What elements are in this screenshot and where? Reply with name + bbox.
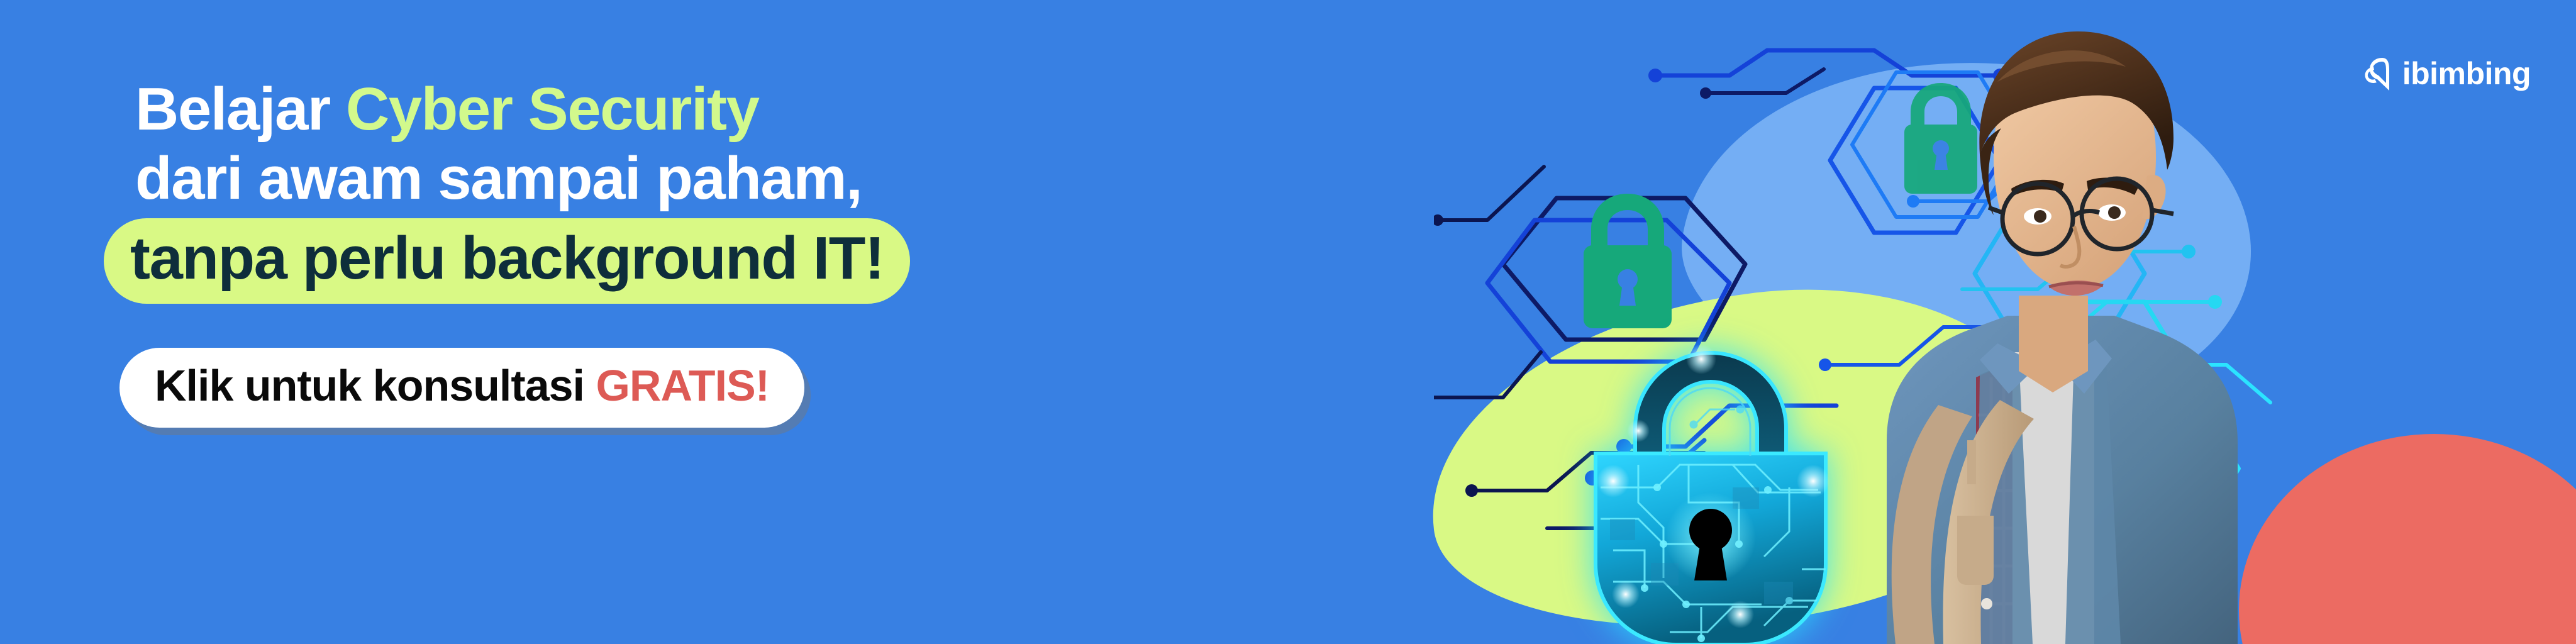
glowing-circuit-padlock-icon: [1575, 330, 1846, 644]
cta-label-free: GRATIS!: [596, 361, 769, 410]
consultation-cta-button[interactable]: Klik untuk konsultasi GRATIS!: [119, 348, 804, 428]
hexagon-padlock-right: [2122, 379, 2190, 482]
light-blue-blob: [1663, 22, 2273, 450]
cta-label-plain: Klik untuk konsultasi: [155, 361, 596, 410]
headline-line-1: Belajar Cyber Security: [135, 75, 1211, 143]
cyber-security-promo-banner: ibimbing Belajar Cyber Security dari awa…: [0, 0, 2576, 644]
ibimbing-logo[interactable]: ibimbing: [2363, 55, 2531, 92]
logo-wordmark: ibimbing: [2402, 58, 2531, 89]
coral-blob: [2239, 434, 2576, 644]
eyeglasses: [1989, 179, 2173, 254]
keyhole: [1689, 509, 1732, 580]
hexagon-padlock-left: [1584, 194, 1672, 328]
hexagon-padlock-top: [1904, 83, 1977, 194]
circuit-hexagon-graphic: [1434, 13, 2314, 579]
lime-blob: [1410, 258, 2074, 644]
headline-highlight-pill: tanpa perlu background IT!: [104, 218, 910, 304]
ibimbing-loop-mark: [2363, 55, 2396, 92]
student-photo: [1811, 0, 2277, 644]
copy-block: Belajar Cyber Security dari awam sampai …: [104, 75, 1211, 428]
headline-line-1-plain: Belajar: [135, 75, 346, 143]
headline-line-2: dari awam sampai paham,: [135, 145, 1211, 213]
headline-accent-cyber-security: Cyber Security: [346, 75, 759, 143]
